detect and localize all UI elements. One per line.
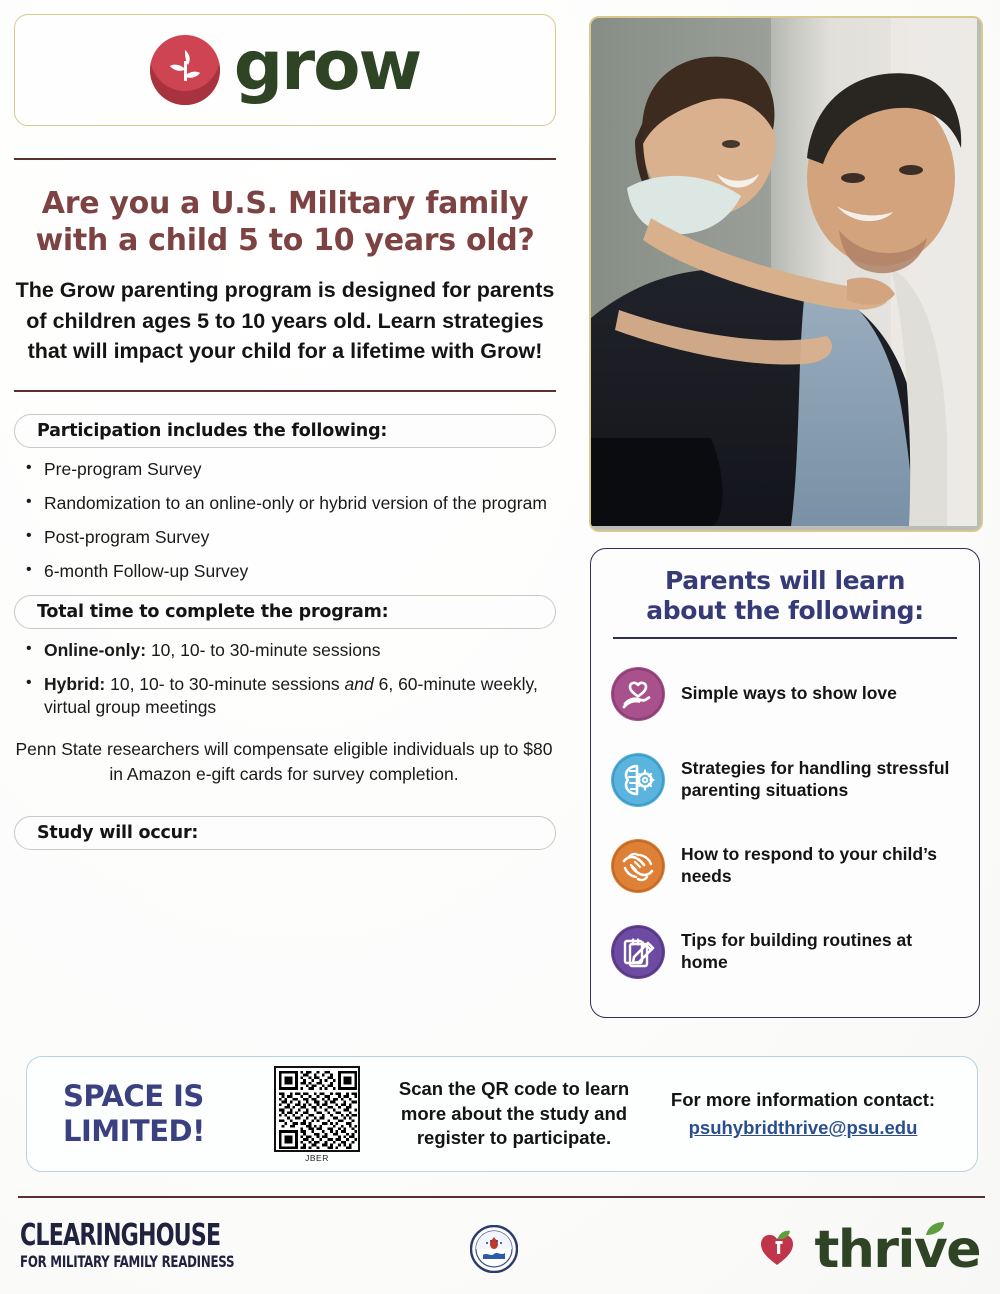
scan-instructions: Scan the QR code to learn more about the…	[379, 1077, 649, 1150]
page-subhead: The Grow parenting program is designed f…	[14, 275, 556, 367]
learn-item-label: Simple ways to show love	[681, 683, 897, 705]
flyer-page: grow Are you a U.S. Military family with…	[0, 0, 1000, 1294]
divider-mid	[14, 390, 556, 392]
thrive-word-text: thrive	[814, 1220, 980, 1280]
list-item: Post-program Survey	[14, 526, 554, 549]
total-time-list: Online-only: 10, 10- to 30-minute sessio…	[14, 639, 554, 719]
space-line-2: LIMITED!	[63, 1114, 253, 1149]
notepad-pencil-icon	[611, 925, 665, 979]
list-item: Strategies for handling stressful parent…	[591, 737, 979, 823]
list-item: Tips for building routines at home	[591, 909, 979, 995]
left-column: grow Are you a U.S. Military family with…	[14, 14, 570, 850]
participation-list: Pre-program Survey Randomization to an o…	[14, 458, 554, 583]
total-time-header: Total time to complete the program:	[14, 595, 556, 629]
learn-panel-title: Parents will learn about the following:	[591, 549, 979, 626]
leaf-accent-icon	[924, 1220, 946, 1238]
list-item: Hybrid: 10, 10- to 30-minute sessions an…	[14, 673, 554, 719]
compensation-note: Penn State researchers will compensate e…	[14, 737, 554, 785]
footer: CLEARINGHOUSE FOR MILITARY FAMILY READIN…	[0, 1205, 1000, 1294]
hand-holding-heart-icon	[611, 667, 665, 721]
learn-items-list: Simple ways to show love Strategies for …	[591, 651, 979, 995]
sprout-in-circle-icon	[150, 35, 220, 105]
hybrid-label: Hybrid:	[44, 674, 105, 694]
qr-code-image[interactable]	[274, 1066, 360, 1152]
clearinghouse-title: CLEARINGHOUSE	[20, 1221, 234, 1251]
online-only-label: Online-only:	[44, 640, 146, 660]
apple-heart-t-icon	[750, 1223, 804, 1277]
learn-panel-divider	[613, 637, 957, 639]
study-occur-header: Study will occur:	[14, 816, 556, 850]
hybrid-emphasis: and	[345, 674, 374, 694]
thrive-logo: thrive	[750, 1223, 980, 1277]
footer-divider	[18, 1196, 985, 1198]
list-item: Simple ways to show love	[591, 651, 979, 737]
learn-title-line1: Parents will learn	[605, 566, 965, 596]
participation-header: Participation includes the following:	[14, 414, 556, 448]
qr-code-block[interactable]: JBER	[265, 1066, 369, 1163]
participation-title: Participation includes the following:	[37, 421, 387, 441]
clearinghouse-subtitle: FOR MILITARY FAMILY READINESS	[20, 1254, 234, 1270]
space-is-limited-text: SPACE IS LIMITED!	[63, 1079, 253, 1150]
list-item: 6-month Follow-up Survey	[14, 560, 554, 583]
learn-item-label: Tips for building routines at home	[681, 930, 961, 974]
parents-will-learn-panel: Parents will learn about the following: …	[590, 548, 980, 1018]
hybrid-text-a: 10, 10- to 30-minute sessions	[105, 674, 344, 694]
study-occur-title: Study will occur:	[37, 823, 198, 843]
clearinghouse-logo: CLEARINGHOUSE FOR MILITARY FAMILY READIN…	[20, 1221, 281, 1270]
cta-banner: SPACE IS LIMITED!	[26, 1056, 978, 1172]
page-headline: Are you a U.S. Military family with a ch…	[14, 186, 556, 259]
family-photo	[589, 16, 983, 532]
contact-block: For more information contact: psuhybridt…	[649, 1089, 957, 1139]
military-community-family-policy-seal-icon	[470, 1225, 518, 1273]
list-item: Online-only: 10, 10- to 30-minute sessio…	[14, 639, 554, 662]
learn-item-label: Strategies for handling stressful parent…	[681, 758, 961, 802]
total-time-title: Total time to complete the program:	[37, 602, 388, 622]
divider-top	[14, 158, 556, 160]
learn-title-line2: about the following:	[605, 596, 965, 626]
contact-email-link[interactable]: psuhybridthrive@psu.edu	[689, 1117, 918, 1139]
list-item: How to respond to your child’s needs	[591, 823, 979, 909]
grow-logo: grow	[14, 14, 556, 126]
logo-wordmark: grow	[234, 32, 421, 101]
list-item: Randomization to an online-only or hybri…	[14, 492, 554, 515]
qr-caption: JBER	[265, 1153, 369, 1163]
brain-gear-icon	[611, 753, 665, 807]
contact-label: For more information contact:	[649, 1089, 957, 1111]
learn-item-label: How to respond to your child’s needs	[681, 844, 961, 888]
list-item: Pre-program Survey	[14, 458, 554, 481]
thrive-wordmark: thrive	[814, 1224, 980, 1276]
space-line-1: SPACE IS	[63, 1079, 253, 1114]
helping-hands-icon	[611, 839, 665, 893]
online-only-text: 10, 10- to 30-minute sessions	[146, 640, 380, 660]
